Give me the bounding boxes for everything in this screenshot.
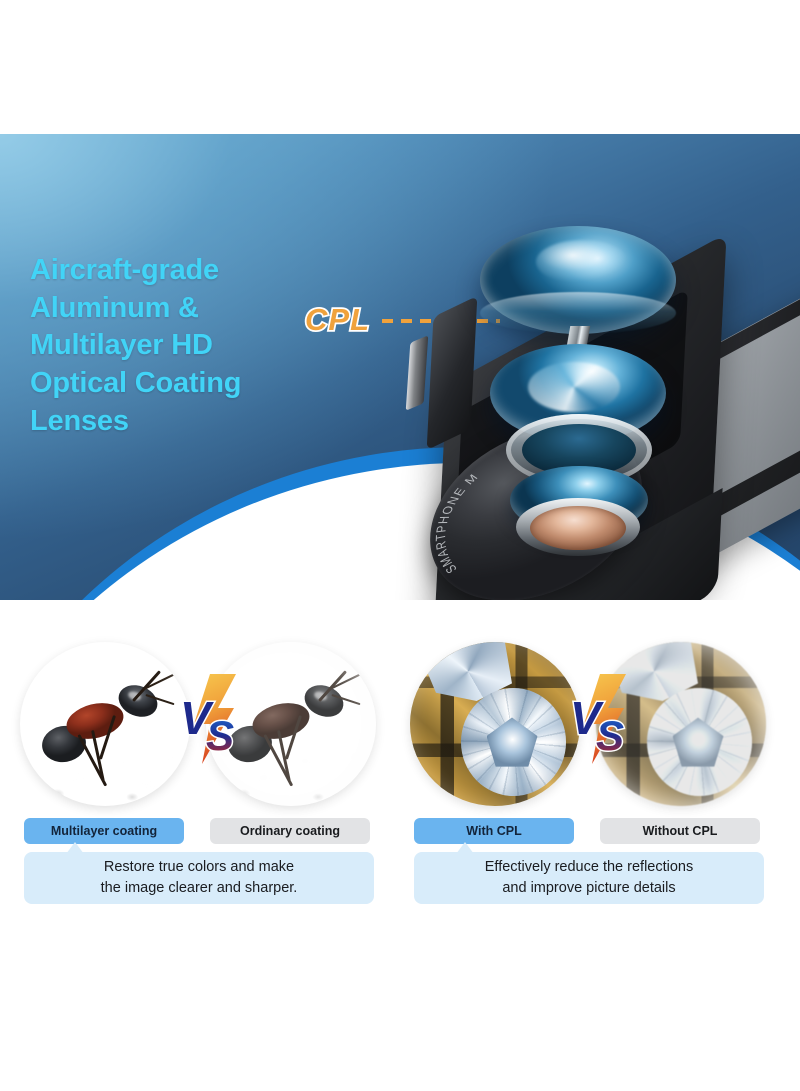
photo-pair: V S (10, 636, 400, 811)
comparison-card-coating: V S Multilayer coating Ordinary coating … (10, 636, 400, 936)
headline-line-3: Multilayer HD (30, 327, 330, 365)
headline-line-5: Lenses (30, 403, 330, 441)
photo-with-cpl (410, 642, 580, 806)
caption-line-2: the image clearer and sharper. (101, 880, 298, 896)
headline-line-4: Optical Coating (30, 365, 330, 403)
vs-badge: V S (566, 672, 632, 766)
label-without-cpl: Without CPL (600, 818, 760, 844)
photo-vignette (410, 642, 580, 806)
caption-line-2: and improve picture details (502, 880, 675, 896)
headline-line-2: Aluminum & (30, 290, 330, 328)
label-with-cpl: With CPL (414, 818, 574, 844)
product-marketing-image: CPL Aircraft-grade Aluminum & Multilayer… (0, 0, 800, 1091)
photo-pair: V S (400, 636, 790, 811)
comparison-card-cpl: V S With CPL Without CPL Effectively red… (400, 636, 790, 936)
caption-coating: Restore true colors and make the image c… (24, 852, 374, 904)
cpl-lens-highlight (536, 240, 628, 284)
svg-text:S: S (596, 712, 624, 759)
product-render-microscope-lens: SMARTPHONE MICROSCOPE ☼ ☾ (330, 214, 800, 600)
headline-line-1: Aircraft-grade (30, 252, 330, 290)
vs-badge: V S (176, 672, 242, 766)
label-multilayer-coating: Multilayer coating (24, 818, 184, 844)
lens-aperture-glow (530, 506, 626, 550)
primary-lens-swirl-highlight (528, 362, 620, 412)
engraving-text: SMARTPHONE MICROSCOPE (418, 438, 488, 582)
photo-multilayer-coating (20, 642, 190, 806)
comparison-section: V S Multilayer coating Ordinary coating … (0, 636, 800, 936)
svg-text:S: S (206, 712, 234, 759)
caption-line-1: Restore true colors and make (104, 859, 294, 875)
page-title: Aircraft-grade Aluminum & Multilayer HD … (30, 252, 330, 440)
caption-line-1: Effectively reduce the reflections (485, 859, 693, 875)
hero-banner: CPL Aircraft-grade Aluminum & Multilayer… (0, 134, 800, 600)
label-ordinary-coating: Ordinary coating (210, 818, 370, 844)
clamp-spring-bar (406, 335, 429, 411)
caption-cpl: Effectively reduce the reflections and i… (414, 852, 764, 904)
photo-vignette (20, 642, 190, 806)
